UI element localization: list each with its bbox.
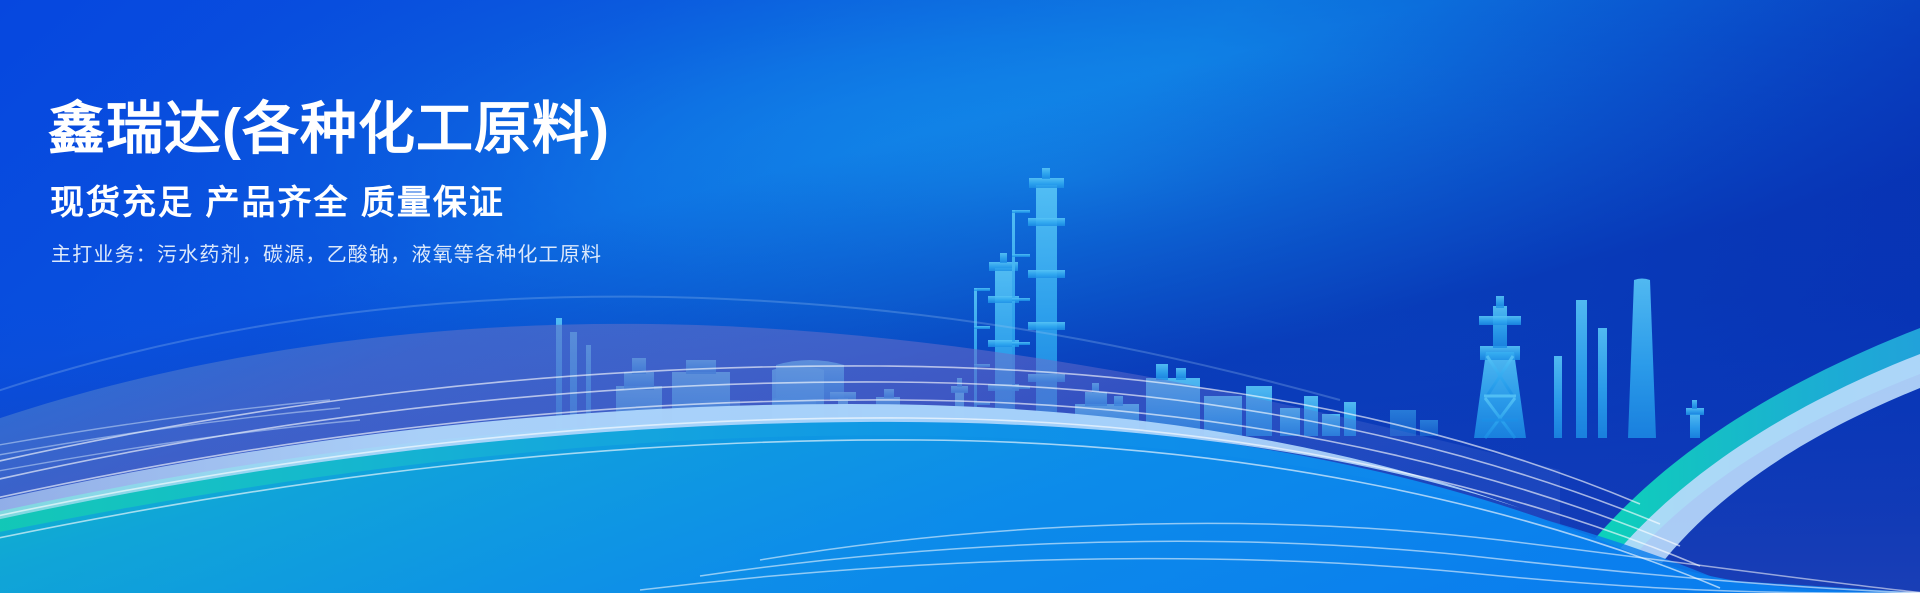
banner-artwork: [0, 0, 1920, 593]
headline-block: 鑫瑞达(各种化工原料) 现货充足 产品齐全 质量保证 主打业务：污水药剂，碳源，…: [48, 96, 610, 268]
smokestacks: [1554, 279, 1656, 439]
business-tagline: 主打业务：污水药剂，碳源，乙酸钠，液氧等各种化工原料: [51, 242, 610, 268]
page-title: 鑫瑞达(各种化工原料): [48, 96, 610, 163]
derrick-tower: [1474, 296, 1526, 438]
subtitle-slogan: 现货充足 产品齐全 质量保证: [50, 183, 610, 224]
promo-banner: 鑫瑞达(各种化工原料) 现货充足 产品齐全 质量保证 主打业务：污水药剂，碳源，…: [0, 0, 1920, 593]
